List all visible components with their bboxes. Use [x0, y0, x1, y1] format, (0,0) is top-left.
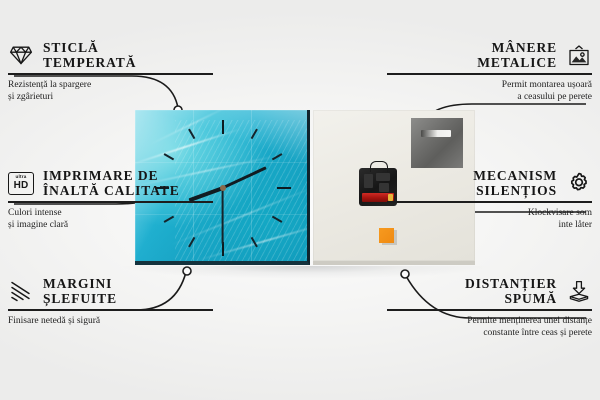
feature-title-line1: IMPRIMARE DE	[43, 168, 158, 183]
feature-title-line1: MÂNERE	[492, 40, 557, 55]
feature-glass: STICLĂ TEMPERATĂ Rezistență la spargere …	[8, 40, 213, 104]
infographic-canvas: STICLĂ TEMPERATĂ Rezistență la spargere …	[0, 0, 600, 400]
feature-movement: MECANISM SILENȚIOS Klockvisare som inte …	[387, 168, 592, 232]
gear-icon	[566, 170, 592, 196]
feature-desc-line2: constante între ceas și perete	[387, 327, 592, 339]
feature-description: Permite menținerea unei distanțe constan…	[387, 315, 592, 340]
picture-hanger-icon	[566, 42, 592, 68]
minute-hand	[222, 166, 267, 189]
press-down-icon	[566, 278, 592, 304]
feature-title: MÂNERE METALICE	[477, 40, 557, 70]
feature-title-line2: TEMPERATĂ	[43, 55, 136, 70]
feature-description: Klockvisare som inte låter	[387, 207, 592, 232]
feature-heading: MECANISM SILENȚIOS	[387, 168, 592, 198]
feature-rule	[8, 201, 213, 203]
feature-desc-line1: Finisare netedă și sigură	[8, 316, 100, 326]
hour-tick	[188, 128, 195, 139]
feature-title: DISTANȚIER SPUMĂ	[465, 276, 557, 306]
polished-edge-icon	[8, 278, 34, 304]
feature-title-line2: SPUMĂ	[465, 291, 557, 306]
feature-description: Culori intense și imagine clară	[8, 207, 213, 232]
hour-tick	[222, 120, 224, 134]
second-hand	[222, 188, 224, 244]
ultra-hd-badge-icon: ultra HD	[8, 170, 34, 196]
feature-title-line1: MARGINI	[43, 276, 112, 291]
feature-heading: MARGINI ȘLEFUITE	[8, 276, 213, 306]
hour-tick	[271, 153, 282, 160]
feature-title: MECANISM SILENȚIOS	[473, 168, 557, 198]
ultra-hd-badge-hd-text: HD	[14, 181, 29, 191]
feature-desc-line1: Permite menținerea unei distanțe	[467, 316, 592, 326]
feature-desc-line1: Permit montarea ușoară	[502, 80, 592, 90]
hour-tick	[188, 236, 195, 247]
feature-desc-line2: și zgârieturi	[8, 91, 213, 103]
feature-heading: STICLĂ TEMPERATĂ	[8, 40, 213, 70]
feature-heading: MÂNERE METALICE	[387, 40, 592, 70]
feature-title-line2: ÎNALTĂ CALITATE	[43, 183, 180, 198]
feature-title-line1: MECANISM	[473, 168, 557, 183]
feature-rule	[8, 309, 213, 311]
feature-desc-line1: Culori intense	[8, 208, 62, 218]
feature-description: Finisare netedă și sigură	[8, 315, 213, 327]
feature-title: MARGINI ȘLEFUITE	[43, 276, 117, 306]
feature-heading: DISTANȚIER SPUMĂ	[387, 276, 592, 306]
feature-print: ultra HD IMPRIMARE DE ÎNALTĂ CALITATE Cu…	[8, 168, 213, 232]
hour-tick	[277, 187, 291, 189]
feature-rule	[8, 73, 213, 75]
feature-rule	[387, 201, 592, 203]
hour-tick	[271, 215, 282, 222]
feature-description: Permit montarea ușoară a ceasului pe per…	[387, 79, 592, 104]
feature-title-line2: ȘLEFUITE	[43, 291, 117, 306]
feature-description: Rezistență la spargere și zgârieturi	[8, 79, 213, 104]
feature-title-line1: STICLĂ	[43, 40, 99, 55]
hour-tick	[163, 153, 174, 160]
feature-desc-line1: Rezistență la spargere	[8, 80, 91, 90]
feature-desc-line2: inte låter	[387, 219, 592, 231]
feature-desc-line2: și imagine clară	[8, 219, 213, 231]
feature-heading: ultra HD IMPRIMARE DE ÎNALTĂ CALITATE	[8, 168, 213, 198]
hour-tick	[250, 128, 257, 139]
feature-rule	[387, 309, 592, 311]
feature-desc-line1: Klockvisare som	[528, 208, 592, 218]
feature-handles: MÂNERE METALICE Permit montarea ușoară a…	[387, 40, 592, 104]
hanger-slot	[421, 130, 451, 137]
feature-rule	[387, 73, 592, 75]
feature-title-line1: DISTANȚIER	[465, 276, 557, 291]
hand-center-cap	[220, 185, 226, 191]
feature-edges: MARGINI ȘLEFUITE Finisare netedă și sigu…	[8, 276, 213, 327]
hour-tick	[250, 236, 257, 247]
hanger-loop	[370, 161, 388, 172]
feature-spacer: DISTANȚIER SPUMĂ Permite menținerea unei…	[387, 276, 592, 340]
diamond-icon	[8, 42, 34, 68]
feature-title: STICLĂ TEMPERATĂ	[43, 40, 136, 70]
feature-desc-line2: a ceasului pe perete	[387, 91, 592, 103]
feature-title-line2: METALICE	[477, 55, 557, 70]
feature-title-line2: SILENȚIOS	[473, 183, 557, 198]
movement-detail	[364, 174, 373, 188]
feature-title: IMPRIMARE DE ÎNALTĂ CALITATE	[43, 168, 180, 198]
metal-hanger-plate	[411, 118, 463, 168]
